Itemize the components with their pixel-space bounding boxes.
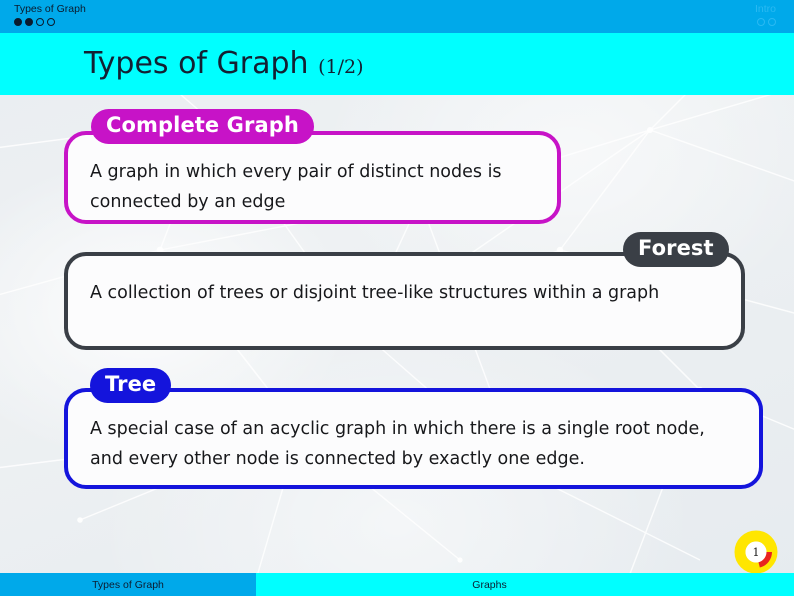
nav-intro-label: Intro (755, 3, 776, 16)
nav-group-current-section[interactable]: Types of Graph (14, 3, 86, 26)
nav-dot-4[interactable] (47, 18, 55, 26)
nav-dot-2[interactable] (25, 18, 33, 26)
definition-label-tree: Tree (90, 368, 171, 403)
nav-intro-dot-1[interactable] (757, 18, 765, 26)
definition-label-forest: Forest (623, 232, 729, 267)
nav-intro-progress-dots (755, 18, 776, 26)
footer-spacer (723, 573, 794, 596)
slide-title-band: Types of Graph (1/2) (0, 33, 794, 95)
page-title-fraction: (1/2) (318, 56, 363, 78)
nav-dot-1[interactable] (14, 18, 22, 26)
definition-text-tree: A special case of an acyclic graph in wh… (90, 414, 741, 474)
definition-text-complete-graph: A graph in which every pair of distinct … (90, 157, 539, 217)
page-number-badge: 1 (734, 530, 778, 574)
page-number-text: 1 (734, 530, 778, 574)
page-title: Types of Graph (1/2) (84, 47, 364, 84)
nav-section-progress-dots (14, 18, 86, 26)
top-navigation-bar: Types of Graph Intro (0, 0, 794, 33)
nav-dot-3[interactable] (36, 18, 44, 26)
slide: Types of Graph Intro Types of Graph (1/2… (0, 0, 794, 596)
footer-bar: Types of Graph Graphs (0, 573, 794, 596)
page-title-main: Types of Graph (84, 46, 309, 81)
definition-text-forest: A collection of trees or disjoint tree-l… (90, 278, 723, 308)
definition-label-complete-graph: Complete Graph (91, 109, 314, 144)
nav-intro-dot-2[interactable] (768, 18, 776, 26)
definition-box-tree: A special case of an acyclic graph in wh… (64, 388, 763, 489)
footer-deck-label[interactable]: Graphs (256, 573, 723, 596)
nav-section-label: Types of Graph (14, 3, 86, 16)
footer-section-label[interactable]: Types of Graph (0, 573, 256, 596)
nav-group-other-section[interactable]: Intro (755, 3, 776, 26)
definition-box-complete-graph: A graph in which every pair of distinct … (64, 131, 561, 224)
